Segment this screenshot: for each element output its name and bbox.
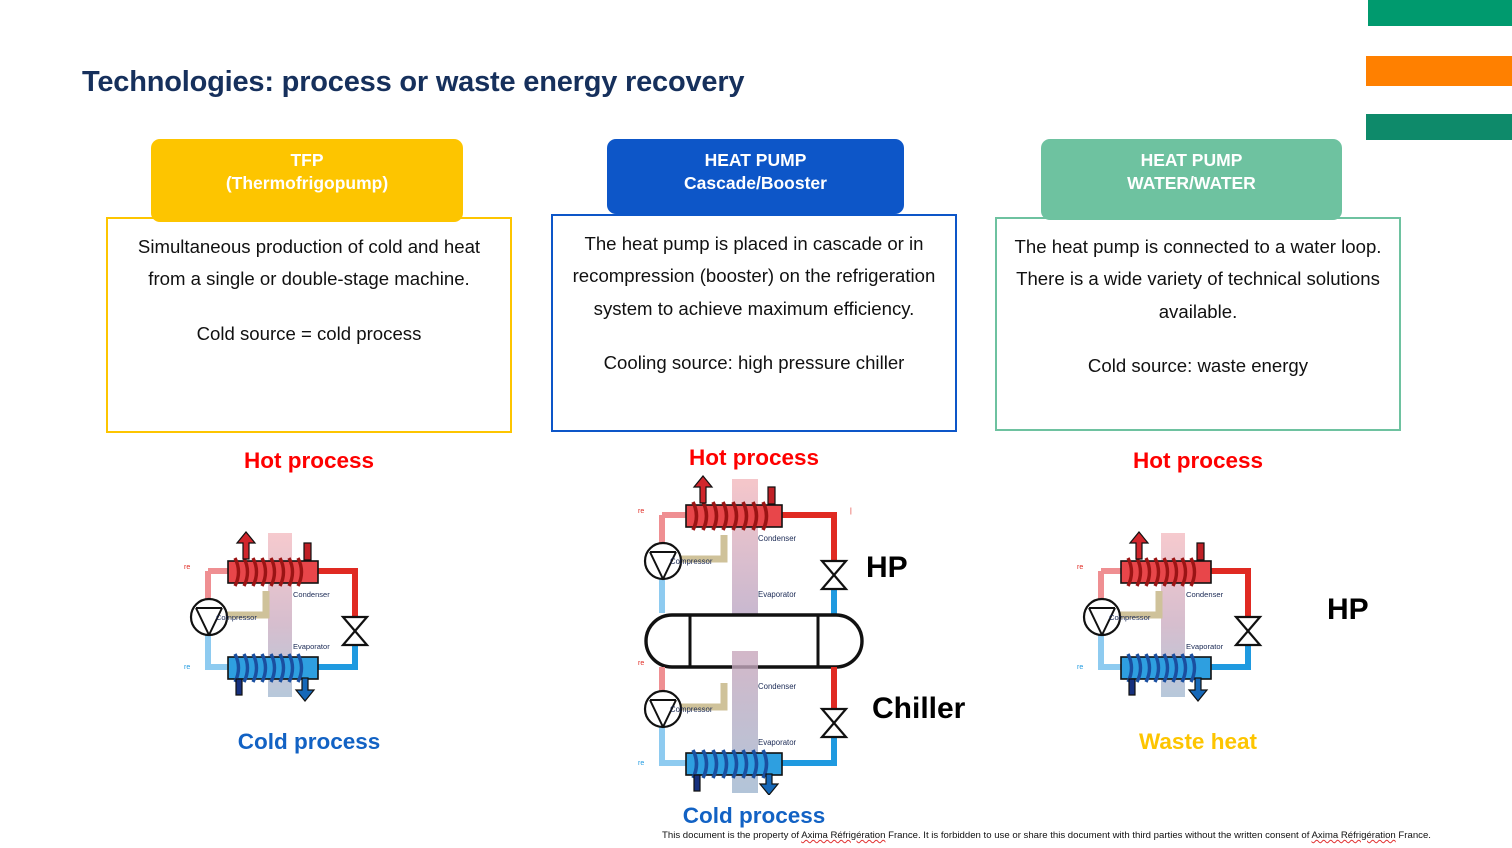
- card-body-tfp: Simultaneous production of cold and heat…: [106, 217, 512, 433]
- heat-out-arrow: [237, 532, 255, 559]
- cascade-cycle-diagram: Compressor Condenser Evaporator re |: [628, 475, 880, 795]
- spacer: [1007, 328, 1389, 350]
- card-header-line2: WATER/WATER: [1047, 172, 1336, 195]
- label-hot-process-water: Hot process: [995, 448, 1401, 474]
- cascade-svg: Compressor Condenser Evaporator re |: [628, 475, 880, 795]
- hp-heat-out-arrow: [694, 476, 712, 503]
- cycle-svg: Compressor Condenser Evaporator re re: [1073, 527, 1279, 703]
- process-band-upper: [732, 479, 758, 619]
- label-hot-process-cascade: Hot process: [551, 445, 957, 471]
- page-title: Technologies: process or waste energy re…: [82, 66, 744, 99]
- label-condenser: Condenser: [293, 590, 330, 599]
- label-hot-process-tfp: Hot process: [106, 448, 512, 474]
- footer-copyright: This document is the property of Axima R…: [662, 830, 1431, 841]
- footer-company1: Axima Réfrigération: [801, 830, 885, 841]
- edge-tag-cold: re: [184, 664, 190, 671]
- label-evaporator: Evaporator: [293, 642, 330, 651]
- card-body-paragraph: The heat pump is connected to a water lo…: [1007, 231, 1389, 328]
- chiller-label-cascade-bottom: Chiller: [872, 692, 965, 726]
- label-evaporator-upper: Evaporator: [758, 590, 797, 599]
- spacer: [563, 325, 945, 347]
- cycle-svg: Compressor Condenser Evaporator re re: [180, 527, 386, 703]
- card-body-source: Cold source = cold process: [118, 318, 500, 350]
- label-condenser-upper: Condenser: [758, 534, 797, 543]
- card-body-heat-pump-water-water: The heat pump is connected to a water lo…: [995, 217, 1401, 431]
- edge-tag-hot-lower: re: [638, 660, 644, 667]
- label-cold-process-tfp: Cold process: [106, 729, 512, 755]
- card-header-line1: HEAT PUMP: [1047, 149, 1336, 172]
- footer-company2: Axima Réfrigération: [1312, 830, 1396, 841]
- expansion-valve-symbol: [343, 617, 367, 645]
- card-header-line1: HEAT PUMP: [613, 149, 898, 172]
- card-body-paragraph: The heat pump is placed in cascade or in…: [563, 228, 945, 325]
- edge-tag-hot: re: [184, 564, 190, 571]
- edge-tag-cold-lower: re: [638, 760, 644, 767]
- card-header-tfp[interactable]: TFP (Thermofrigopump): [151, 139, 463, 222]
- edge-tag-hot: re: [1077, 564, 1083, 571]
- card-body-source: Cold source: waste energy: [1007, 350, 1389, 382]
- card-header-heat-pump-water-water[interactable]: HEAT PUMP WATER/WATER: [1041, 139, 1342, 220]
- label-compressor: Compressor: [216, 613, 257, 622]
- edge-tag-hot-upper: re: [638, 508, 644, 515]
- card-header-line2: Cascade/Booster: [613, 172, 898, 195]
- card-body-heat-pump-cascade: The heat pump is placed in cascade or in…: [551, 214, 957, 432]
- edge-tag-cold: re: [1077, 664, 1083, 671]
- card-body-paragraph: Simultaneous production of cold and heat…: [118, 231, 500, 296]
- label-condenser-lower: Condenser: [758, 682, 797, 691]
- card-header-line1: TFP: [157, 149, 457, 172]
- refrigeration-cycle-diagram-tfp: Compressor Condenser Evaporator re re: [180, 527, 386, 703]
- decor-bar-green-bottom: [1366, 114, 1512, 140]
- hp-label-water-water: HP: [1327, 593, 1369, 627]
- heat-out-arrow: [1130, 532, 1148, 559]
- label-waste-heat: Waste heat: [995, 729, 1401, 755]
- label-compressor: Compressor: [1109, 613, 1151, 622]
- label-cold-process-cascade: Cold process: [551, 803, 957, 829]
- label-condenser: Condenser: [1186, 590, 1224, 599]
- footer-part2: France. It is forbidden to use or share …: [885, 830, 1311, 841]
- label-evaporator: Evaporator: [1186, 642, 1224, 651]
- refrigeration-cycle-diagram-water-water: Compressor Condenser Evaporator re re: [1073, 527, 1279, 703]
- chiller-expansion-valve-symbol: [822, 709, 846, 737]
- footer-part1: This document is the property of: [662, 830, 801, 841]
- label-compressor-upper: Compressor: [670, 557, 713, 566]
- card-header-heat-pump-cascade[interactable]: HEAT PUMP Cascade/Booster: [607, 139, 904, 214]
- edge-tag-right-upper: |: [850, 508, 852, 515]
- card-header-line2: (Thermofrigopump): [157, 172, 457, 195]
- hp-expansion-valve-symbol: [822, 561, 846, 589]
- label-compressor-lower: Compressor: [670, 705, 713, 714]
- decor-bar-orange: [1366, 56, 1512, 86]
- card-body-source: Cooling source: high pressure chiller: [563, 347, 945, 379]
- label-evaporator-lower: Evaporator: [758, 738, 797, 747]
- decor-bar-green-top: [1368, 0, 1512, 26]
- spacer: [118, 296, 500, 318]
- expansion-valve-symbol: [1236, 617, 1260, 645]
- footer-part3: France.: [1396, 830, 1431, 841]
